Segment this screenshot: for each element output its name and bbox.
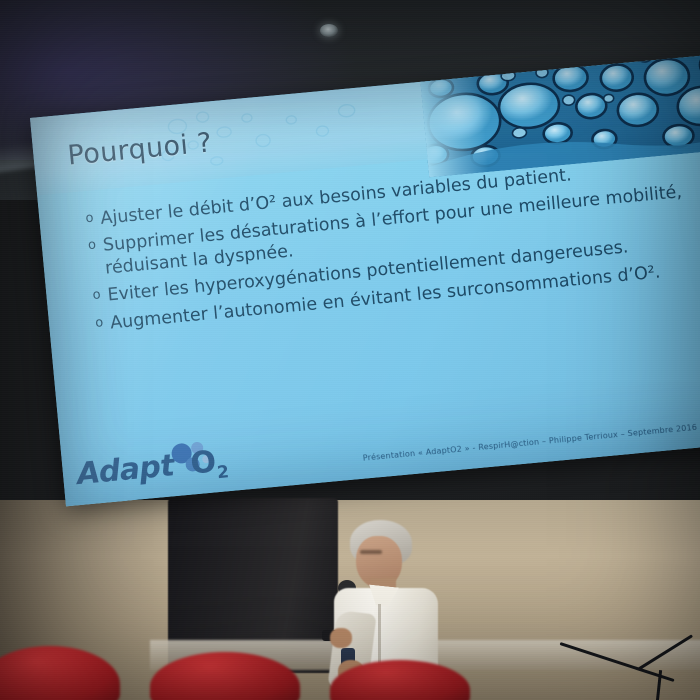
bullet-marker-icon: o xyxy=(87,236,97,257)
logo-o2: O2 xyxy=(189,443,230,485)
microphone-stand-icon xyxy=(560,630,700,700)
conference-photo-scene: Pourquoi ? o Ajuster le débit d’O² aux b… xyxy=(0,0,700,700)
presenter-hand-clicker xyxy=(330,628,352,648)
logo-wordmark: Adapt xyxy=(76,448,176,492)
bullet-marker-icon: o xyxy=(92,285,102,306)
recessed-ceiling-light-icon xyxy=(320,24,338,37)
presentation-slide: Pourquoi ? o Ajuster le débit d’O² aux b… xyxy=(30,52,700,506)
bullet-marker-icon: o xyxy=(94,313,104,334)
bullet-marker-icon: o xyxy=(85,209,95,230)
projection-screen: Pourquoi ? o Ajuster le débit d’O² aux b… xyxy=(30,52,700,506)
presenter-brow xyxy=(360,550,382,554)
